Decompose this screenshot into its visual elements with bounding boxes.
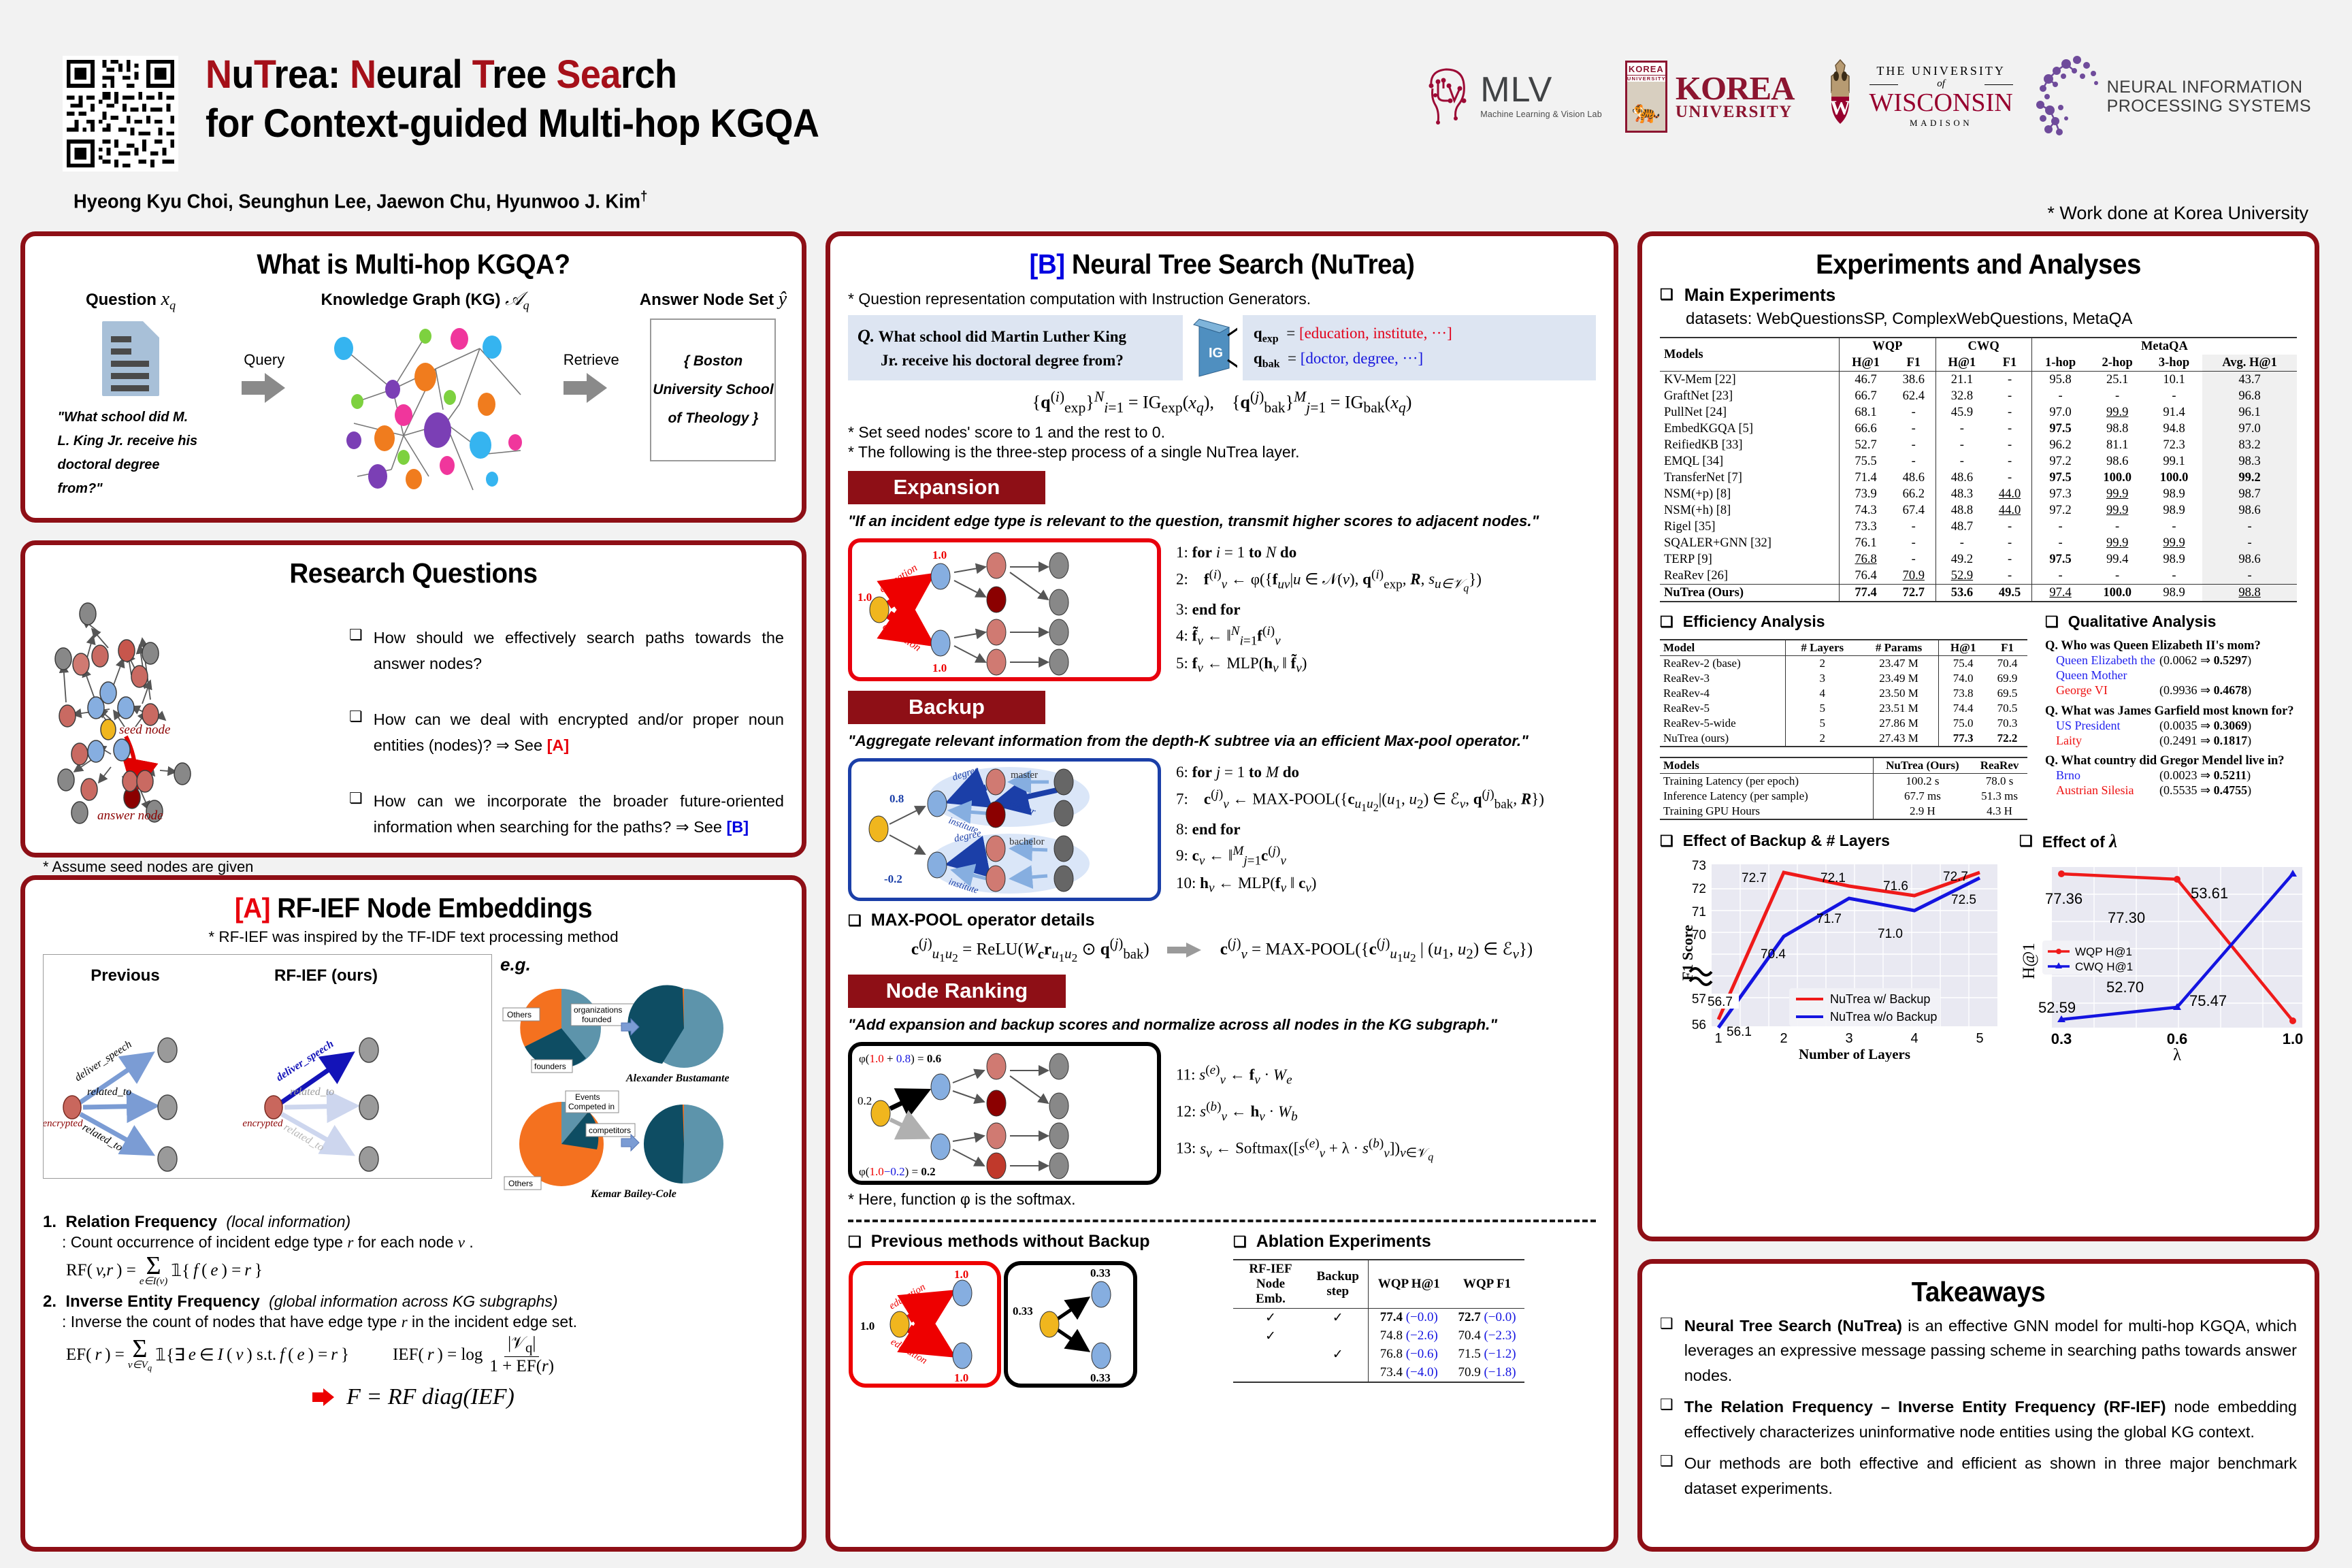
cell-value: - [2031,519,2089,535]
cell-value: 97.0 [2202,421,2297,437]
cell-value: - [1935,437,1988,453]
column-right: Experiments and Analyses ❏Main Experimen… [1637,231,2319,1552]
cell-value: 45.9 [1935,404,1988,421]
rfief-title-text: RF-IEF Node Embeddings [277,892,592,924]
cell-value: 98.6 [2089,453,2145,470]
chart1-xtick-5: 5 [1976,1031,1983,1046]
cell-value: 48.7 [1935,519,1988,535]
algo-line-4: 4: f̃v ← ‖Ni=1f(i)v [1176,621,1596,651]
footnote: * Work done at Korea University [2047,203,2308,224]
ranking-algorithm: 11: s(e)v ← fv · We 12: s(b)v ← hv · Wb … [1176,1060,1596,1166]
red-arrow-icon [312,1387,336,1407]
rfief-eq-rf-row: RF(v,r) = Σe∈I(v) 𝟙{f(e) = r} [66,1254,784,1287]
qa-entity: US President [2056,719,2159,734]
cell-value: 52.9 [1935,568,1988,585]
eff-col-header: # Layers [1785,640,1859,656]
eff-col-header: Model [1660,640,1785,656]
rq-graph-wrap: seed node answer node * Assume seed node… [43,593,342,876]
cell-value: 43.7 [2202,372,2297,389]
chart1-xlabel: Number of Layers [1799,1046,1910,1062]
cell-value: - [1892,421,1935,437]
checkbox-icon: ❑ [1660,1394,1673,1444]
chart2-xtick-03: 0.3 [2051,1030,2072,1047]
banner-expansion: Expansion [848,471,1045,504]
qr-code[interactable] [63,56,178,171]
main-results-table: Models WQP CWQ MetaQA H@1 F1 H@1 F1 1-ho… [1660,337,2297,602]
cell-value: 44.0 [1988,486,2031,502]
question-line-2: Jr. receive his doctoral degree from? [881,349,1124,372]
qa-question: Q. What country did Gregor Mendel live i… [2045,754,2297,768]
chart-backup-layers: ❏Effect of Backup & # Layers [1660,831,2014,1066]
cell-value: 66.6 [1840,421,1892,437]
table-row: Training Latency (per epoch)100.2 s78.0 … [1660,773,2027,789]
cell-value: - [1935,421,1988,437]
pie-charts-illustration: Others organizationsfounded founders Ale… [500,975,766,1200]
qa-score: (0.0062 ⇒ 0.5297) [2159,653,2251,683]
ablation-header-rfief: RF-IEF Node Emb. [1233,1260,1308,1309]
q-exp-value: [education, institute, ···] [1299,325,1452,342]
tiger-icon: 🐅 [1632,98,1661,125]
table-row: KV-Mem [22]46.738.621.1-95.825.110.143.7 [1660,372,2297,389]
qa-entity: Austrian Silesia [2056,783,2159,798]
col-2hop: 2-hop [2089,355,2145,372]
qa-answer-row: US President(0.0035 ⇒ 0.3069) [2056,719,2297,734]
cell-value: 73.9 [1840,486,1892,502]
ablation-cell-f1: 70.4 (−2.3) [1450,1327,1524,1345]
backup-edge-master: master [1011,770,1038,781]
chart1-ytick-56: 56 [1692,1018,1706,1032]
ablation-check-backup: ✓ [1308,1345,1368,1364]
ranking-label-seed: 0.2 [857,1094,872,1107]
neurips-line2: PROCESSING SYSTEMS [2107,97,2311,116]
wisconsin-line4: MADISON [1869,118,2013,129]
cell-value: - [1935,453,1988,470]
qa-score: (0.9936 ⇒ 0.4678) [2159,683,2251,698]
poster-title-line1: NuTrea: Neural Tree Search [206,50,819,99]
cell-value: 23.49 M [1859,671,1939,686]
chart2-xlabel: λ [2173,1046,2181,1063]
maxpool-eq-2: c(j)v = MAX-POOL({c(j)u1u2 | (u1, u2) ∈ … [1220,935,1533,965]
cell-value: 97.5 [2031,421,2089,437]
takeaway-item: ❑Our methods are both effective and effi… [1660,1451,2297,1501]
cell-value: 98.8 [2089,421,2145,437]
table-row: Training GPU Hours2.9 H4.3 H [1660,804,2027,819]
research-question-graph: seed node answer node [43,593,336,852]
ranking-quote: "Add expansion and backup scores and nor… [848,1016,1596,1034]
checkbox-icon: ❏ [1233,1232,1247,1252]
main-table-head: Models WQP CWQ MetaQA H@1 F1 H@1 F1 1-ho… [1660,338,2297,372]
ablation-check-rfief: ✓ [1233,1308,1308,1327]
kgqa-query-label: Query [242,351,287,369]
question-prefix: Q. [857,326,875,346]
edge-label-related-to-ours-1: related_to [290,1086,334,1098]
charts-row: ❏Effect of Backup & # Layers [1660,831,2297,1066]
cell-value: 99.2 [2202,470,2297,486]
qa-question: Q. What was James Garfield most known fo… [2045,704,2297,719]
nutrea-note-2: * Set seed nodes' score to 1 and the res… [848,423,1596,442]
arrow-right-icon-retrieve [563,372,608,404]
cell-value: 21.1 [1935,372,1988,389]
cell-value: 96.1 [2202,404,2297,421]
table-row: ✓ 76.8 (−0.6) 71.5 (−1.2) [1233,1345,1524,1364]
qa-answer-row: George VI(0.9936 ⇒ 0.4678) [2056,683,2297,698]
ablation-cell-h1: 73.4 (−4.0) [1368,1364,1450,1382]
panel-rf-ief: [A] RF-IEF Node Embeddings * RF-IEF was … [20,875,806,1552]
edge-label-deliver-speech-ours: deliver_speech [274,1038,336,1083]
rfief-previous-label: Previous [91,966,159,985]
cell-value: 99.1 [2146,453,2202,470]
wisconsin-line1: THE UNIVERSITY [1869,64,2013,78]
chart1-xtick-4: 4 [1910,1031,1918,1046]
chart1-ylabel: F1 Score [1679,925,1696,981]
algo-line-2: 2: f(i)v ← φ({fuv|u ∈ 𝒩(v), q(i)exp, R, … [1176,565,1596,598]
prev-methods-block: ❏Previous methods without Backup [848,1232,1215,1392]
ranking-label-bottom: φ(1.0−0.2) = 0.2 [859,1165,936,1178]
nutrea-note-3: * The following is the three-step proces… [848,443,1596,461]
chart1-dlabel-72-7b: 72.7 [1943,870,1968,884]
cell-value: 76.4 [1840,568,1892,585]
eff-col-header: H@1 [1939,640,1987,656]
cell-value: 96.8 [2202,388,2297,404]
pie-label-others-2: Others [508,1179,533,1188]
cell-model: EmbedKGQA [5] [1660,421,1840,437]
wisconsin-crest-icon: W [1818,59,1863,135]
eff-col-header: # Params [1859,640,1939,656]
chart1-dlabel-72-5: 72.5 [1951,893,1976,907]
chart1-legend-2: NuTrea w/o Backup [1830,1010,1937,1024]
rfief-def-2: 2. Inverse Entity Frequency (global info… [43,1292,784,1311]
cell-value: 99.9 [2089,535,2145,551]
equation-f-rf-diag: F = RF diag(IEF) [346,1384,514,1410]
checkbox-icon: ❏ [1660,612,1673,632]
cell-value: 69.5 [1987,686,2027,701]
panel-rq-title: Research Questions [65,557,762,589]
cell-value: 75.4 [1939,655,1987,671]
arrow-right-icon-query [242,372,287,404]
seed-node-label: seed node [119,723,170,737]
cell-value: - [1988,372,2031,389]
cell-value: ReaRev-4 [1660,686,1785,701]
banner-backup: Backup [848,691,1045,724]
chart1-dlabel-71-0: 71.0 [1878,927,1903,941]
cell-value: 2.9 H [1873,804,1972,819]
takeaway-item: ❑Neural Tree Search (NuTrea) is an effec… [1660,1313,2297,1388]
col-models: Models [1660,338,1840,372]
cell-model: NuTrea (Ours) [1660,585,1840,602]
expansion-quote: "If an incident edge type is relevant to… [848,512,1596,530]
col-3hop: 3-hop [2146,355,2202,372]
cell-value: 67.7 ms [1873,789,1972,804]
panel-takeaways: Takeaways ❑Neural Tree Search (NuTrea) i… [1637,1259,2319,1552]
col-avg-h1: Avg. H@1 [2202,355,2297,372]
cell-value: 97.0 [2031,404,2089,421]
cell-value: 27.43 M [1859,731,1939,747]
cell-value: 53.6 [1935,585,1988,602]
table-row: NuTrea (ours)227.43 M77.372.2 [1660,731,2027,747]
wisconsin-logo: W THE UNIVERSITY of WISCONSIN MADISON [1818,50,2013,142]
chart2-ylabel: H@1 [2020,943,2038,979]
arrow-right-icon-maxpool [1167,942,1203,958]
chart2-legend-1: WQP H@1 [2075,945,2132,958]
table-row: 73.4 (−4.0) 70.9 (−1.8) [1233,1364,1524,1382]
author-dagger: † [640,189,647,204]
checkbox-icon: ❏ [2019,831,2033,851]
korea-crest-top: KOREA [1629,64,1664,74]
q-bak-value: [doctor, degree, ···] [1301,350,1423,367]
cell-value: 66.7 [1840,388,1892,404]
qualitative-analysis-block: ❏Qualitative Analysis Q. Who was Queen E… [2040,612,2297,820]
backup-edge-bachelor: bachelor [1009,836,1045,847]
cell-value: 97.5 [2031,470,2089,486]
table-row: Inference Latency (per sample)67.7 ms51.… [1660,789,2027,804]
cell-value: 81.1 [2089,437,2145,453]
cell-value: 83.2 [2202,437,2297,453]
cell-value: 98.8 [2202,585,2297,602]
neurips-logo: NEURAL INFORMATION PROCESSING SYSTEMS [2036,50,2311,142]
cell-value: 25.1 [2089,372,2145,389]
efficiency-table-2-header: ModelsNuTrea (Ours)ReaRev [1660,757,2027,774]
chart1-ytick-72: 72 [1692,882,1706,896]
nutrea-note-1: * Question representation computation wi… [848,290,1596,308]
cell-value: 62.4 [1892,388,1935,404]
answer-node-label: answer node [97,808,163,823]
chart2-dlabel-52-70: 52.70 [2106,979,2144,996]
cell-value: 71.4 [1840,470,1892,486]
prev-score-bottom-left: 1.0 [954,1371,968,1384]
checkbox-icon: ❏ [848,911,862,931]
table-row: ReaRev [26]76.470.952.9----- [1660,568,2297,585]
cell-value: 68.1 [1840,404,1892,421]
backup-row: 0.8 -0.2 degree master institute doctor … [848,758,1596,901]
cell-value: - [1892,551,1935,568]
title-block: NuTrea: Neural Tree Search for Context-g… [206,50,865,148]
cell-value: - [1892,519,1935,535]
eg-label: e.g. [500,954,772,975]
cell-value: 70.3 [1987,716,2027,731]
rq-item-2: ❏How can we incorporate the broader futu… [349,788,784,840]
table-row: TERP [9]76.8-49.2-97.599.498.998.6 [1660,551,2297,568]
rfief-comparison-box: Previous RF-IEF (ours) deliver_speech re… [43,954,492,1179]
panel-nutrea-title: [B] Neural Tree Search (NuTrea) [870,248,1573,280]
efficiency-table-2: ModelsNuTrea (Ours)ReaRev Training Laten… [1660,757,2027,820]
table-row: SQALER+GNN [32]76.1----99.999.9- [1660,535,2297,551]
ablation-check-rfief: ✓ [1233,1327,1308,1345]
cell-value: - [2146,388,2202,404]
kgqa-graph-block: Knowledge Graph (KG) 𝒜q [313,289,538,491]
cell-value: 97.5 [2031,551,2089,568]
ablation-title: Ablation Experiments [1256,1232,1431,1252]
chart1-xtick-3: 3 [1845,1031,1852,1046]
table-row: TransferNet [7]71.448.648.6-97.5100.0100… [1660,470,2297,486]
prev-score-top-right: 0.33 [1090,1267,1111,1279]
ranking-note: * Here, function φ is the softmax. [848,1190,1596,1209]
rfief-def-1-sub: : Count occurrence of incident edge type… [62,1233,784,1252]
cell-value: - [1988,437,2031,453]
question-representation-box: qexp = [education, institute, ···] qbak … [1243,315,1596,380]
wisconsin-line2: of [1869,78,2013,90]
cell-value: 97.3 [2031,486,2089,502]
expansion-score-bottom: 1.0 [932,661,947,674]
cell-value: - [2089,568,2145,585]
rq-body: seed node answer node * Assume seed node… [43,593,784,876]
ablation-check-backup: ✓ [1308,1308,1368,1327]
datasets-line: datasets: WebQuestionsSP, ComplexWebQues… [1686,310,2297,329]
cell-model: TransferNet [7] [1660,470,1840,486]
cell-value: 32.8 [1935,388,1988,404]
cell-value: 5 [1785,716,1859,731]
rfief-definitions: 1. Relation Frequency (local information… [43,1213,784,1410]
document-icon [102,321,159,396]
cell-value: 76.1 [1840,535,1892,551]
cell-value: Training GPU Hours [1660,804,1873,819]
takeaway-item: ❑The Relation Frequency – Inverse Entity… [1660,1394,2297,1444]
cell-value: 3 [1785,671,1859,686]
rq-assume-note: * Assume seed nodes are given [43,858,342,876]
cell-value: 77.3 [1939,731,1987,747]
kgqa-arrow-query-wrap: Query [242,289,287,408]
checkbox-icon: ❏ [1660,284,1673,305]
cell-value: 96.2 [2031,437,2089,453]
qa-score: (0.2491 ⇒ 0.1817) [2159,734,2251,749]
svg-text:competitors: competitors [589,1126,631,1135]
q-bak-row: qbak = [doctor, degree, ···] [1254,350,1585,371]
ablation-cell-f1: 71.5 (−1.2) [1450,1345,1524,1364]
algo-line-3: 3: end for [1176,598,1596,622]
table-row: ✓ 74.8 (−2.6) 70.4 (−2.3) [1233,1327,1524,1345]
poster-root: NuTrea: Neural Tree Search for Context-g… [0,0,2352,1568]
cell-value: 98.9 [2146,585,2202,602]
checkbox-icon: ❏ [349,625,363,676]
ranking-label-top: φ(1.0 + 0.8) = 0.6 [859,1052,941,1065]
chart1-legend: NuTrea w/ Backup NuTrea w/o Backup [1789,988,1940,1026]
nutrea-tag: [B] [1030,248,1065,280]
cell-value: 98.6 [2202,551,2297,568]
cell-value: - [1988,568,2031,585]
rfief-def-2-sub: : Inverse the count of nodes that have e… [62,1313,784,1331]
cell-value: ReaRev-2 (base) [1660,655,1785,671]
cell-value: - [1892,453,1935,470]
cell-value: 23.47 M [1859,655,1939,671]
rfief-note: * RF-IEF was inspired by the TF-IDF text… [43,928,784,946]
equation-rf: RF(v,r) = Σe∈I(v) 𝟙{f(e) = r} [66,1254,263,1287]
neurips-arc-icon [2036,53,2102,140]
mlv-logo: MLV Machine Learning & Vision Lab [1423,50,1602,142]
qa-answer-row: Brno(0.0023 ⇒ 0.5211) [2056,768,2297,783]
cell-value: 95.8 [2031,372,2089,389]
analysis-row: ❏Efficiency Analysis Model# Layers# Para… [1660,612,2297,820]
korea-university-word: UNIVERSITY [1676,104,1795,120]
cell-value: 49.5 [1988,585,2031,602]
cell-model: Rigel [35] [1660,519,1840,535]
rfief-ours-label: RF-IEF (ours) [274,966,378,985]
eff-col-header: F1 [1987,640,2027,656]
cell-value: - [1988,551,2031,568]
cell-value: - [1892,535,1935,551]
main-table-body: KV-Mem [22]46.738.621.1-95.825.110.143.7… [1660,372,2297,585]
qa-answer-row: Laity(0.2491 ⇒ 0.1817) [2056,734,2297,749]
cell-value: 98.9 [2146,486,2202,502]
cell-value: 74.0 [1939,671,1987,686]
cell-value: 77.4 [1840,585,1892,602]
chart2-dlabel-52-59: 52.59 [2038,999,2076,1016]
cell-value: 23.50 M [1859,686,1939,701]
qualitative-list: Q. Who was Queen Elizabeth II's mom?Quee… [2045,639,2297,799]
prev-score-top-left: 1.0 [954,1268,968,1281]
table-row: ✓ ✓ 77.4 (−0.0) 72.7 (−0.0) [1233,1308,1524,1327]
cell-value: 5 [1785,701,1859,716]
author-list: Hyeong Kyu Choi, Seunghun Lee, Jaewon Ch… [73,189,647,214]
rq-list: ❏How should we effectively search paths … [349,593,784,840]
expansion-score-top: 1.0 [932,549,947,561]
eff2-col-header: Models [1660,757,1873,774]
instruction-generator-box: IG [1188,315,1237,380]
maxpool-eq-1: c(j)u1u2 = ReLU(Wcru1u2 ⊙ q(j)bak) [911,935,1149,965]
chart2-dlabel-77-30: 77.30 [2108,909,2145,926]
cell-value: 70.4 [1987,655,2027,671]
chart2-xtick-06: 0.6 [2167,1030,2188,1047]
pie-kemar: EventsCompeted in competitors Others Kem… [504,1091,723,1200]
cell-value: 4.3 H [1972,804,2027,819]
mlv-subtitle: Machine Learning & Vision Lab [1480,110,1602,119]
table-row: ReifiedKB [33]52.7---96.281.172.383.2 [1660,437,2297,453]
cell-value: 99.9 [2089,486,2145,502]
svg-text:founders: founders [534,1062,566,1071]
cell-value: - [2202,535,2297,551]
cell-value: 98.7 [2202,486,2297,502]
efficiency-title-row: ❏Efficiency Analysis [1660,612,2027,632]
cell-value: - [1892,437,1935,453]
cell-value: NuTrea (ours) [1660,731,1785,747]
cell-value: - [2202,568,2297,585]
bottom-two-up: ❏Previous methods without Backup [848,1232,1596,1392]
cell-model: PullNet [24] [1660,404,1840,421]
checkbox-icon: ❑ [1660,1451,1673,1501]
node-ranking-diagram: φ(1.0 + 0.8) = 0.6 0.2 φ(1.0−0.2) = 0.2 [852,1046,1157,1181]
korea-wordmark: KOREA [1676,73,1795,103]
svg-text:W: W [1830,97,1850,119]
cell-value: - [2089,388,2145,404]
cell-model: GraftNet [23] [1660,388,1840,404]
neurips-line1: NEURAL INFORMATION [2107,78,2311,97]
expansion-row: 1.0 1.0 1.0 education education 1: for i… [848,538,1596,681]
pie-alexander: Others organizationsfounded founders Ale… [503,985,730,1084]
pie-label-others-1: Others [507,1010,532,1019]
cell-value: 23.51 M [1859,701,1939,716]
chart1-legend-1: NuTrea w/ Backup [1830,992,1930,1006]
chart2-dlabel-53-61: 53.61 [2191,885,2228,902]
cell-value: - [1935,535,1988,551]
algo-line-7: 7: c(j)v ← MAX-POOL({cu1u2|(u1, u2) ∈ ℰv… [1176,785,1596,817]
kgqa-arrow-retrieve-wrap: Retrieve [563,289,619,408]
cell-value: 52.7 [1840,437,1892,453]
table-row: ReaRev-4423.50 M73.869.5 [1660,686,2027,701]
author-names: Hyeong Kyu Choi, Seunghun Lee, Jaewon Ch… [73,191,640,213]
eff2-col-header: NuTrea (Ours) [1873,757,1972,774]
cell-value: 67.4 [1892,502,1935,519]
checkbox-icon: ❏ [2045,612,2059,632]
chart1-dlabel-72-1: 72.1 [1820,871,1846,885]
cell-value: 49.2 [1935,551,1988,568]
cell-value: 48.8 [1935,502,1988,519]
table-row: ReaRev-5-wide527.86 M75.070.3 [1660,716,2027,731]
col-1hop: 1-hop [2031,355,2089,372]
q-exp-row: qexp = [education, institute, ···] [1254,325,1585,346]
cell-value: 46.7 [1840,372,1892,389]
ablation-check-backup [1308,1364,1368,1382]
kgqa-question-text: "What school did M. L. King Jr. receive … [58,406,204,501]
table-row: NSM(+h) [8]74.367.448.844.097.299.998.99… [1660,502,2297,519]
table-row: NSM(+p) [8]73.966.248.344.097.399.998.99… [1660,486,2297,502]
